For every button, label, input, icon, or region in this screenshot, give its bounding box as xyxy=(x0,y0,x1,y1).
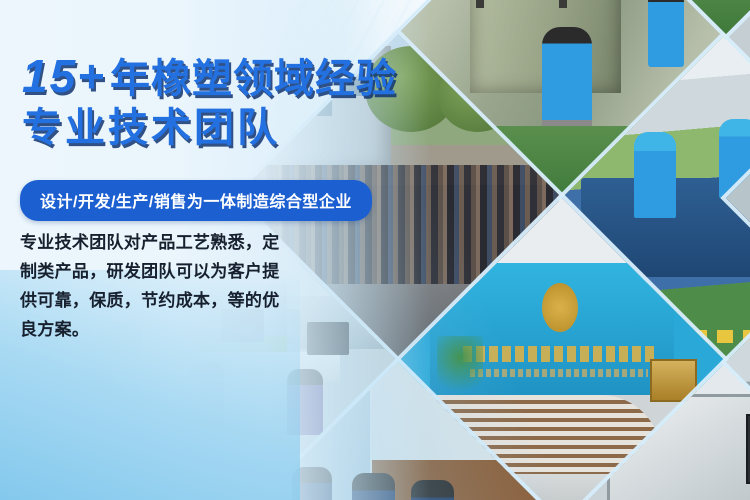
years-number: 15+ xyxy=(22,50,106,102)
subtitle-pill: 设计/开发/生产/销售为一体制造综合型企业 xyxy=(20,180,372,221)
headline-line-2: 专业技术团队 xyxy=(22,104,280,152)
body-paragraph: 专业技术团队对产品工艺熟悉，定制类产品，研发团队可以为客户提供可靠，保质，节约成… xyxy=(20,228,280,344)
text-content: 15+年橡塑领域经验 专业技术团队 设计/开发/生产/销售为一体制造综合型企业 … xyxy=(0,0,460,500)
headline-line-1: 15+年橡塑领域经验 xyxy=(22,52,397,103)
company-banner: 15+年橡塑领域经验 专业技术团队 设计/开发/生产/销售为一体制造综合型企业 … xyxy=(0,0,750,500)
headline-line-1-text: 年橡塑领域经验 xyxy=(110,57,397,101)
